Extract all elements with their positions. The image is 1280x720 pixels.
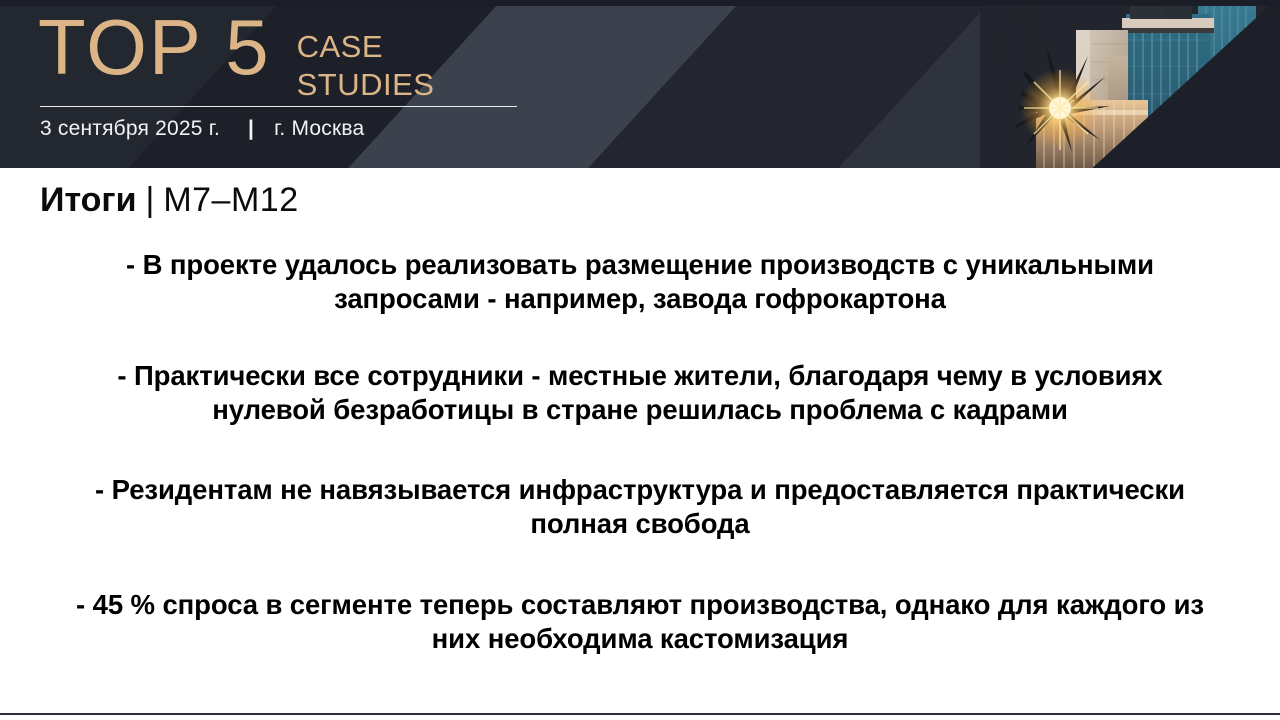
- page-title-range: M7–M12: [163, 181, 298, 219]
- bullet-item-2: - Практически все сотрудники - местные ж…: [54, 359, 1226, 426]
- page-title-separator: |: [136, 181, 163, 219]
- bullet-item-3: - Резидентам не навязывается инфраструкт…: [54, 473, 1226, 540]
- event-date: 3 сентября 2025 г.: [40, 117, 220, 141]
- event-meta: 3 сентября 2025 г. | г. Москва: [40, 117, 558, 141]
- bullet-item-4: - 45 % спроса в сегменте теперь составля…: [48, 588, 1232, 655]
- skyscraper-photo-art: [980, 0, 1280, 168]
- event-city: г. Москва: [264, 117, 364, 141]
- page-title: Итоги|M7–M12: [40, 182, 299, 219]
- brand-lockup-row: TOP 5 CASE STUDIES: [38, 14, 558, 104]
- meta-separator: |: [220, 117, 264, 141]
- page-title-main: Итоги: [40, 181, 136, 219]
- slide: TOP 5 CASE STUDIES 3 сентября 2025 г. | …: [0, 0, 1280, 720]
- brand-top5: TOP 5: [38, 10, 271, 85]
- brand-studies-line: STUDIES: [297, 66, 435, 104]
- header-banner: TOP 5 CASE STUDIES 3 сентября 2025 г. | …: [0, 0, 1280, 168]
- bullet-list: - В проекте удалось реализовать размещен…: [54, 248, 1226, 683]
- brand-case-line: CASE: [297, 28, 435, 66]
- bullet-item-1: - В проекте удалось реализовать размещен…: [54, 248, 1226, 315]
- footer-rule: [0, 713, 1280, 715]
- brand-lockup: TOP 5 CASE STUDIES 3 сентября 2025 г. | …: [38, 14, 558, 141]
- skyscraper-photo: [980, 0, 1280, 168]
- header-divider-rule: [40, 106, 517, 108]
- brand-case-studies: CASE STUDIES: [297, 28, 435, 104]
- header-top-strip: [0, 0, 1280, 6]
